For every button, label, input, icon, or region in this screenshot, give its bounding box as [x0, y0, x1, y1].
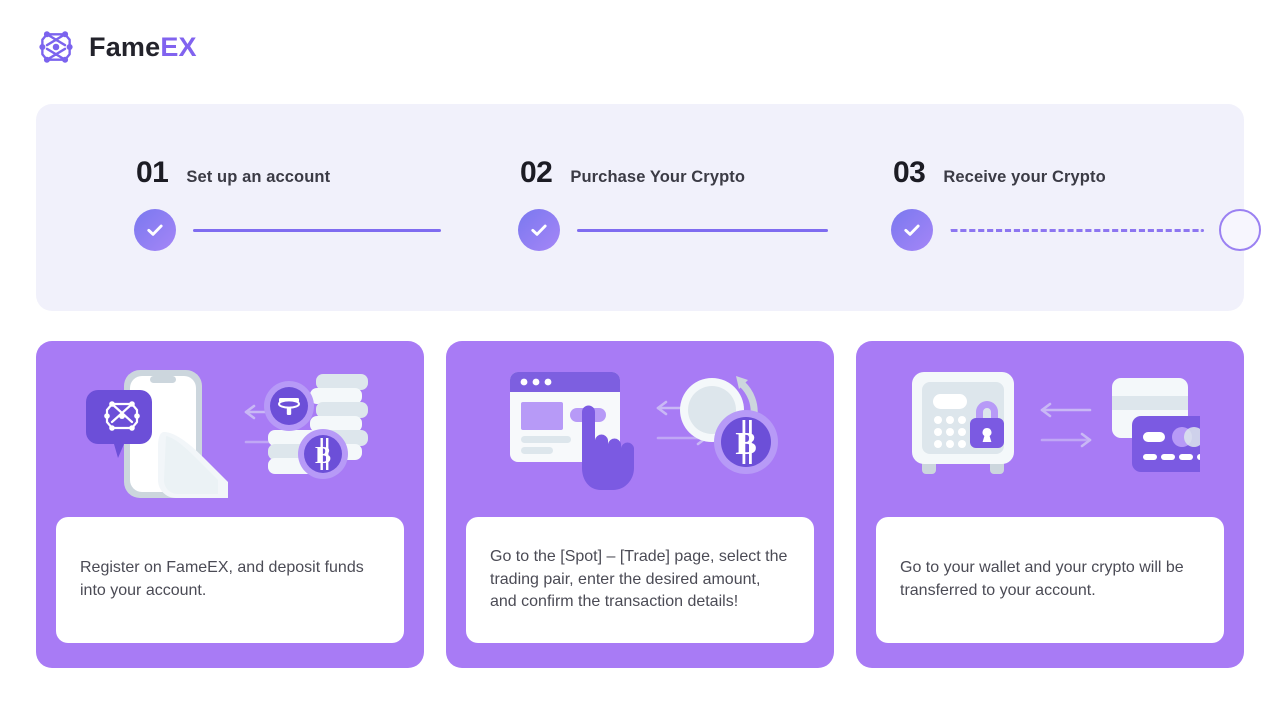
bitcoin-coin-icon: B — [298, 429, 348, 479]
step-complete-check-icon — [891, 209, 933, 251]
purple-credit-card-icon — [1132, 416, 1200, 472]
step-pending-circle-icon — [1219, 209, 1261, 251]
step-title: Purchase Your Crypto — [570, 168, 745, 187]
card-description: Go to your wallet and your crypto will b… — [876, 517, 1224, 643]
step-number: 03 — [893, 156, 925, 190]
browser-and-exchange-illustration: B — [446, 341, 834, 517]
step-heading: 01 Set up an account — [136, 156, 330, 190]
step-connector-dashed-line — [950, 229, 1204, 232]
progress-stepper: 01 Set up an account 02 Purchase Your Cr… — [36, 104, 1244, 311]
step-progress-row — [891, 209, 1261, 251]
safe-vault-icon — [912, 372, 1014, 474]
usdt-coin-icon — [264, 381, 314, 431]
step-heading: 03 Receive your Crypto — [893, 156, 1106, 190]
step-card-3[interactable]: Go to your wallet and your crypto will b… — [856, 341, 1244, 668]
step-heading: 02 Purchase Your Crypto — [520, 156, 745, 190]
step-complete-check-icon — [518, 209, 560, 251]
page-root: FameEX 01 Set up an account 02 — [0, 0, 1280, 720]
step-progress-row — [134, 209, 441, 251]
step-cards: B Register on FameEX, and deposit funds … — [36, 341, 1244, 668]
brand-header[interactable]: FameEX — [36, 26, 197, 68]
exchange-arrows-icon — [1042, 404, 1090, 446]
step-number: 02 — [520, 156, 552, 190]
phone-and-coins-illustration: B — [36, 341, 424, 517]
step-connector-line — [193, 229, 441, 232]
brand-name-primary: Fame — [89, 32, 160, 62]
step-progress-row — [518, 209, 828, 251]
step-connector-line — [577, 229, 828, 232]
svg-text:B: B — [315, 443, 331, 469]
card-description: Go to the [Spot] – [Trade] page, select … — [466, 517, 814, 643]
svg-text:B: B — [735, 425, 756, 461]
safe-and-cards-illustration — [856, 341, 1244, 517]
step-complete-check-icon — [134, 209, 176, 251]
bitcoin-coin-icon: B — [714, 410, 778, 474]
card-description: Register on FameEX, and deposit funds in… — [56, 517, 404, 643]
brand-name-accent: EX — [160, 32, 196, 62]
brand-wordmark: FameEX — [89, 34, 197, 61]
step-card-1[interactable]: B Register on FameEX, and deposit funds … — [36, 341, 424, 668]
step-number: 01 — [136, 156, 168, 190]
step-card-2[interactable]: B Go to the [Spot] – [Trade] page, selec… — [446, 341, 834, 668]
keypad-dots — [934, 416, 966, 448]
step-title: Set up an account — [186, 168, 330, 187]
fameex-logo-icon — [36, 26, 76, 68]
step-title: Receive your Crypto — [943, 168, 1105, 187]
